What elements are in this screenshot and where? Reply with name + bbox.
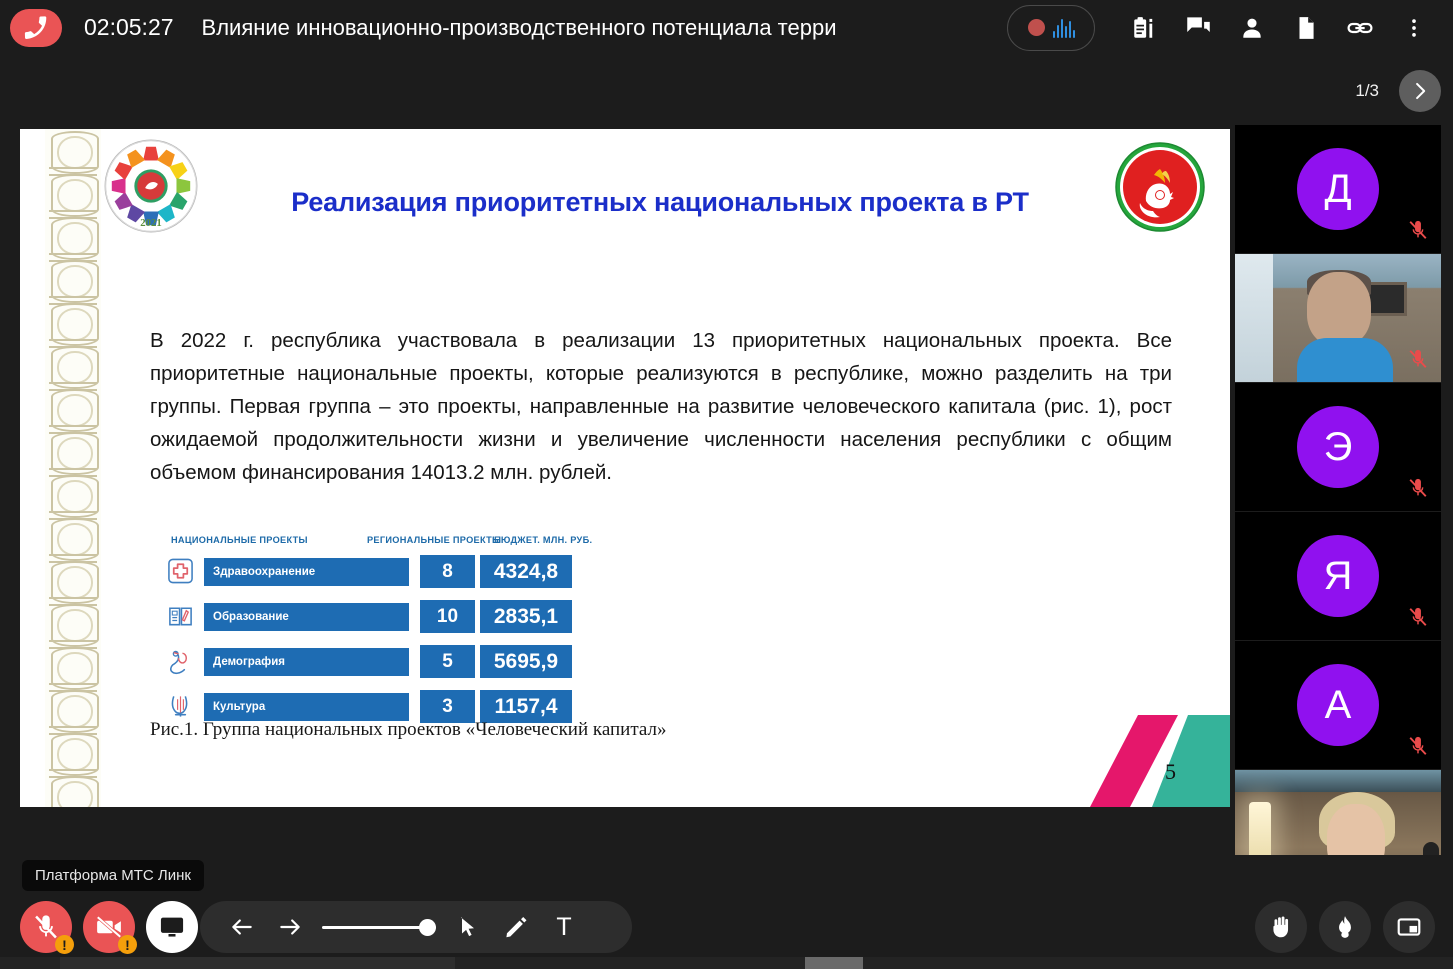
camera-off-button[interactable]: ! xyxy=(83,901,135,953)
avatar: Д xyxy=(1297,148,1379,230)
participants-pager: 1/3 xyxy=(1223,58,1441,124)
meeting-window: 02:05:27 Влияние инновационно-производст… xyxy=(0,0,1453,969)
link-icon[interactable] xyxy=(1333,0,1387,55)
more-options-icon[interactable] xyxy=(1387,0,1441,55)
participant-tile-video-1[interactable] xyxy=(1235,254,1441,382)
pager-next-button[interactable] xyxy=(1399,70,1441,112)
chevron-right-icon xyxy=(1410,81,1430,101)
top-bar: 02:05:27 Влияние инновационно-производст… xyxy=(0,0,1453,55)
next-slide-button[interactable] xyxy=(266,901,314,953)
taskbar-segment[interactable] xyxy=(60,957,455,969)
column-header-regional: РЕГИОНАЛЬНЫЕ ПРОЕКТЫ xyxy=(367,535,501,545)
flame-icon xyxy=(1332,914,1358,940)
media-controls: ! ! xyxy=(20,901,198,953)
hand-icon xyxy=(1268,914,1294,940)
slide-corner-decoration xyxy=(1090,687,1230,807)
table-row: Образование 10 2835,1 xyxy=(162,598,602,643)
notes-icon[interactable] xyxy=(1117,0,1171,55)
figure-caption: Рис.1. Группа национальных проектов «Чел… xyxy=(150,719,666,741)
project-name: Демография xyxy=(204,648,409,676)
participant-tile-a[interactable]: А xyxy=(1235,641,1441,769)
ornament-motif xyxy=(45,688,101,731)
ornament-motif xyxy=(45,516,101,559)
audio-level-icon xyxy=(1053,18,1075,38)
meeting-title: Влияние инновационно-производственного п… xyxy=(202,15,837,41)
arrow-left-icon xyxy=(229,914,255,940)
face xyxy=(1307,272,1371,346)
ornament-motif xyxy=(45,602,101,645)
slide-tools-group: T xyxy=(200,901,632,953)
ornament-motif xyxy=(45,344,101,387)
platform-tooltip: Платформа МТС Линк xyxy=(22,860,204,891)
slide-body-text: В 2022 г. республика участвовала в реали… xyxy=(150,324,1172,489)
chat-icon[interactable] xyxy=(1171,0,1225,55)
arrow-right-icon xyxy=(277,914,303,940)
camera-warning-badge: ! xyxy=(118,935,137,954)
project-count: 5 xyxy=(420,645,475,678)
ornament-motif xyxy=(45,387,101,430)
avatar: Э xyxy=(1297,406,1379,488)
right-controls xyxy=(1255,901,1435,953)
mic-off-icon xyxy=(32,913,60,941)
ornament-motif xyxy=(45,473,101,516)
phone-hangup-icon xyxy=(21,13,51,43)
mic-muted-icon xyxy=(1407,735,1429,757)
project-name: Образование xyxy=(204,603,409,631)
raise-hand-button[interactable] xyxy=(1255,901,1307,953)
participant-tile-d[interactable]: Д xyxy=(1235,125,1441,253)
column-header-national: НАЦИОНАЛЬНЫЕ ПРОЕКТЫ xyxy=(171,535,308,545)
medical-cross-icon xyxy=(164,554,196,588)
ornament-motif xyxy=(45,559,101,602)
lyre-icon xyxy=(164,689,196,723)
mic-off-button[interactable]: ! xyxy=(20,901,72,953)
slide-page-number: 5 xyxy=(1165,759,1176,785)
project-count: 10 xyxy=(420,600,475,633)
ornament-motif xyxy=(45,301,101,344)
stork-baby-icon xyxy=(164,644,196,678)
avatar: А xyxy=(1297,664,1379,746)
pen-tool-button[interactable] xyxy=(492,901,540,953)
file-icon[interactable] xyxy=(1279,0,1333,55)
table-row: Здравоохранение 8 4324,8 xyxy=(162,553,602,598)
ornament-motif xyxy=(45,645,101,688)
os-taskbar xyxy=(0,957,1453,969)
pager-label: 1/3 xyxy=(1355,81,1379,101)
taskbar-segment[interactable] xyxy=(805,957,863,969)
mic-muted-icon xyxy=(1407,219,1429,241)
share-screen-button[interactable] xyxy=(146,901,198,953)
record-dot-icon xyxy=(1028,19,1045,36)
participant-tile-ya[interactable]: Я xyxy=(1235,512,1441,640)
reactions-button[interactable] xyxy=(1319,901,1371,953)
ornament-motif xyxy=(45,172,101,215)
mic-muted-icon xyxy=(1407,477,1429,499)
slide-canvas[interactable]: 2021 Реализация приоритетных на xyxy=(20,129,1230,807)
ceiling xyxy=(1235,770,1441,792)
participant-tile-e[interactable]: Э xyxy=(1235,383,1441,511)
ornament-motif xyxy=(45,215,101,258)
project-name: Культура xyxy=(204,693,409,721)
top-bar-actions xyxy=(1007,0,1441,55)
ornament-motif xyxy=(45,774,101,807)
ornament-motif xyxy=(45,129,101,172)
layout-icon xyxy=(1396,914,1422,940)
participants-filmstrip: Д Э xyxy=(1235,125,1441,899)
project-budget: 4324,8 xyxy=(480,555,572,588)
tatarstan-2021-anniversary-logo: 2021 xyxy=(102,137,200,235)
meeting-timer: 02:05:27 xyxy=(84,14,174,41)
svg-text:2021: 2021 xyxy=(140,217,162,229)
cursor-icon xyxy=(456,915,480,939)
open-book-icon xyxy=(164,599,196,633)
layout-button[interactable] xyxy=(1383,901,1435,953)
project-budget: 2835,1 xyxy=(480,600,572,633)
ornament-motif xyxy=(45,258,101,301)
national-projects-table: НАЦИОНАЛЬНЫЕ ПРОЕКТЫ РЕГИОНАЛЬНЫЕ ПРОЕКТ… xyxy=(162,529,602,733)
text-tool-button[interactable]: T xyxy=(540,901,588,953)
mic-warning-badge: ! xyxy=(55,935,74,954)
end-call-button[interactable] xyxy=(10,9,62,47)
pointer-tool-button[interactable] xyxy=(444,901,492,953)
ornament-motif xyxy=(45,430,101,473)
project-name: Здравоохранение xyxy=(204,558,409,586)
tatarstan-coat-of-arms xyxy=(1110,137,1210,237)
screen-share-icon xyxy=(158,913,186,941)
zoom-slider[interactable] xyxy=(314,901,444,953)
table-header-row: НАЦИОНАЛЬНЫЕ ПРОЕКТЫ РЕГИОНАЛЬНЫЕ ПРОЕКТ… xyxy=(162,529,602,553)
bottom-control-bar: Платформа МТС Линк ! ! xyxy=(0,855,1453,969)
mic-muted-icon xyxy=(1407,606,1429,628)
presentation-stage: 2021 Реализация приоритетных на xyxy=(0,55,1230,855)
tatar-ornament-border xyxy=(45,129,101,807)
project-count: 8 xyxy=(420,555,475,588)
recording-indicator-button[interactable] xyxy=(1007,5,1095,51)
table-row: Демография 5 5695,9 xyxy=(162,643,602,688)
ornament-motif xyxy=(45,731,101,774)
pencil-icon xyxy=(504,915,528,939)
mic-muted-icon xyxy=(1407,348,1429,370)
column-header-budget: БЮДЖЕТ. МЛН. РУБ. xyxy=(494,535,592,545)
text-tool-label: T xyxy=(556,913,571,942)
participants-icon[interactable] xyxy=(1225,0,1279,55)
slide-title: Реализация приоритетных национальных про… xyxy=(220,187,1100,218)
prev-slide-button[interactable] xyxy=(218,901,266,953)
project-budget: 5695,9 xyxy=(480,645,572,678)
slider-knob[interactable] xyxy=(419,919,436,936)
avatar: Я xyxy=(1297,535,1379,617)
